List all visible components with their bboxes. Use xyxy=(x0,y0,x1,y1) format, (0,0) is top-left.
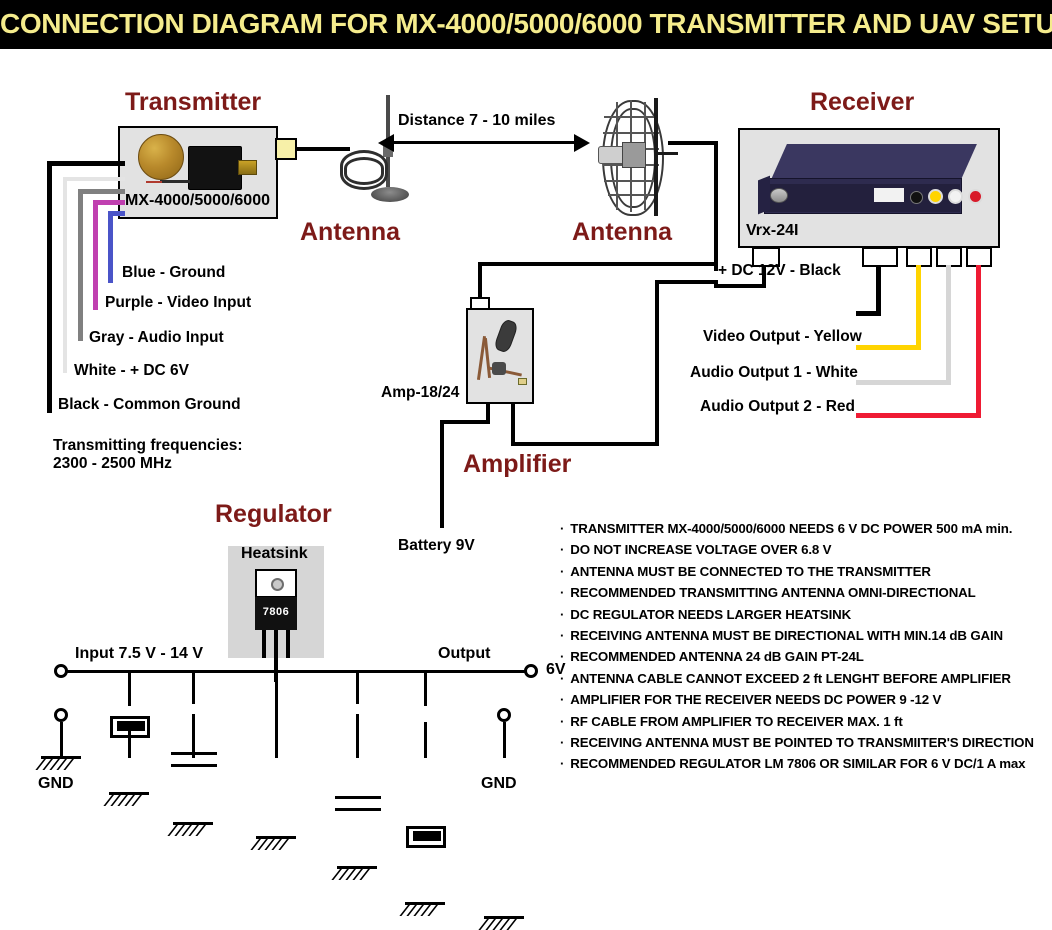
transmitter-model-label: MX-4000/5000/6000 xyxy=(125,192,270,210)
note-text: RECEIVING ANTENNA MUST BE POINTED TO TRA… xyxy=(570,732,1034,753)
regulator-power-rail xyxy=(62,670,530,673)
note-bullet: · xyxy=(560,689,564,710)
rca-audio-white-icon xyxy=(948,189,963,204)
regulator-chip-body: 7806 xyxy=(255,597,297,630)
rca-video-yellow-icon xyxy=(928,189,943,204)
transmitter-module-icon xyxy=(188,146,242,190)
regulator-chip-code: 7806 xyxy=(255,606,297,618)
note-text: RECOMMENDED REGULATOR LM 7806 OR SIMILAR… xyxy=(570,753,1025,774)
note-item: ·RECOMMENDED REGULATOR LM 7806 OR SIMILA… xyxy=(560,753,1052,774)
gnd-left-terminal-node xyxy=(54,708,68,722)
capacitor-2 xyxy=(335,796,381,812)
coin-scale-reference-icon xyxy=(138,134,184,180)
note-text: RF CABLE FROM AMPLIFIER TO RECEIVER MAX.… xyxy=(570,711,902,732)
tx-wire-label-gray: Gray - Audio Input xyxy=(89,329,224,347)
receiver-tab-audio2 xyxy=(966,247,992,267)
note-bullet: · xyxy=(560,539,564,560)
note-bullet: · xyxy=(560,732,564,753)
tx-wire-purple-horizontal xyxy=(93,200,125,205)
title-bar: CONNECTION DIAGRAM FOR MX-4000/5000/6000… xyxy=(0,0,1052,52)
note-bullet: · xyxy=(560,518,564,539)
rx-output-label-dc: + DC 12V - Black xyxy=(718,262,841,280)
note-bullet: · xyxy=(560,753,564,774)
receiver-model-label: Vrx-24I xyxy=(746,222,798,240)
note-bullet: · xyxy=(560,604,564,625)
rx-output-wire-red-vertical xyxy=(976,265,981,418)
amplifier-module-icon xyxy=(493,318,519,354)
note-item: ·RECOMMENDED ANTENNA 24 dB GAIN PT-24L xyxy=(560,646,1052,667)
note-item: ·RECOMMENDED TRANSMITTING ANTENNA OMNI-D… xyxy=(560,582,1052,603)
rx-output-label-audio1: Audio Output 1 - White xyxy=(690,364,858,382)
note-item: ·ANTENNA MUST BE CONNECTED TO THE TRANSM… xyxy=(560,561,1052,582)
distance-label: Distance 7 - 10 miles xyxy=(398,112,555,130)
output-terminal-node xyxy=(524,664,538,678)
note-text: DO NOT INCREASE VOLTAGE OVER 6.8 V xyxy=(570,539,831,560)
note-item: ·DO NOT INCREASE VOLTAGE OVER 6.8 V xyxy=(560,539,1052,560)
gnd-right-drop xyxy=(503,722,506,758)
branch2-drop-bottom xyxy=(128,722,131,758)
receiver-tab-dc xyxy=(862,247,898,267)
amplifier-model-label: Amp-18/24 xyxy=(381,384,459,402)
tx-wire-white-vertical xyxy=(63,177,67,373)
transmitter-device-box: MX-4000/5000/6000 xyxy=(118,126,278,219)
note-item: ·ANTENNA CABLE CANNOT EXCEED 2 ft LENGHT… xyxy=(560,668,1052,689)
tx-wire-label-purple: Purple - Video Input xyxy=(105,294,251,312)
branch3-drop-bottom xyxy=(192,714,195,758)
amplifier-device-box xyxy=(466,308,534,404)
ground-symbol-1 xyxy=(41,756,81,770)
branch6-drop-top xyxy=(424,670,427,706)
amp-to-battery-vertical xyxy=(440,420,444,528)
rca-audio-red-icon xyxy=(968,189,983,204)
rx-output-wire-yellow-vertical xyxy=(916,265,921,350)
note-bullet: · xyxy=(560,711,564,732)
receiver-tab-video xyxy=(906,247,932,267)
note-item: ·RF CABLE FROM AMPLIFIER TO RECEIVER MAX… xyxy=(560,711,1052,732)
note-item: ·RECEIVING ANTENNA MUST BE POINTED TO TR… xyxy=(560,732,1052,753)
note-text: RECOMMENDED TRANSMITTING ANTENNA OMNI-DI… xyxy=(570,582,975,603)
regulator-pin-in xyxy=(262,630,266,658)
tx-wire-label-blue: Blue - Ground xyxy=(122,264,225,282)
regulator-output-label: Output xyxy=(438,645,490,663)
rx-output-label-video: Video Output - Yellow xyxy=(703,328,862,346)
tx-wire-label-black: Black - Common Ground xyxy=(58,396,241,414)
receiver-tab-audio1 xyxy=(936,247,962,267)
rx-output-label-audio2: Audio Output 2 - Red xyxy=(700,398,855,416)
rx-antenna-heading: Antenna xyxy=(572,218,672,247)
regulator-chip-tab xyxy=(255,569,297,598)
tx-wire-black-horizontal xyxy=(47,161,125,166)
note-item: ·DC REGULATOR NEEDS LARGER HEATSINK xyxy=(560,604,1052,625)
ground-symbol-2 xyxy=(109,792,149,806)
note-bullet: · xyxy=(560,646,564,667)
amplifier-heading: Amplifier xyxy=(463,450,571,479)
ground-symbol-7 xyxy=(484,916,524,930)
heatsink-label: Heatsink xyxy=(241,545,308,563)
note-text: ANTENNA MUST BE CONNECTED TO THE TRANSMI… xyxy=(570,561,931,582)
note-text: RECEIVING ANTENNA MUST BE DIRECTIONAL WI… xyxy=(570,625,1003,646)
gnd-left-drop xyxy=(60,722,63,758)
rx-output-wire-yellow-horizontal xyxy=(856,345,921,350)
battery-label: Battery 9V xyxy=(398,537,475,555)
tx-wire-purple-vertical xyxy=(93,200,98,310)
note-text: TRANSMITTER MX-4000/5000/6000 NEEDS 6 V … xyxy=(570,518,1012,539)
note-bullet: · xyxy=(560,625,564,646)
tx-wire-label-white: White - + DC 6V xyxy=(74,362,189,380)
tx-antenna-heading: Antenna xyxy=(300,218,400,247)
branch5-drop-bottom xyxy=(356,714,359,758)
distance-arrow-line xyxy=(393,141,576,144)
regulator-heading: Regulator xyxy=(215,500,332,529)
note-text: RECOMMENDED ANTENNA 24 dB GAIN PT-24L xyxy=(570,646,863,667)
frequencies-line-1: Transmitting frequencies: xyxy=(53,437,242,455)
page-title: CONNECTION DIAGRAM FOR MX-4000/5000/6000… xyxy=(0,0,1052,47)
branch2-drop-top xyxy=(128,670,131,706)
diagram-canvas: CONNECTION DIAGRAM FOR MX-4000/5000/6000… xyxy=(0,0,1052,815)
gnd-right-label: GND xyxy=(481,775,517,793)
branch3-drop-top xyxy=(192,670,195,704)
ground-symbol-3 xyxy=(173,822,213,836)
rx-output-wire-white-horizontal xyxy=(856,380,951,385)
branch5-drop-top xyxy=(356,670,359,704)
rx-output-wire-black-vertical xyxy=(876,265,881,315)
tx-wire-blue-vertical xyxy=(108,211,113,283)
regulator-pin-gnd xyxy=(274,630,278,682)
regulator-input-label: Input 7.5 V - 14 V xyxy=(75,645,203,663)
distance-arrow-right-head xyxy=(574,134,590,152)
tx-wire-black-vertical xyxy=(47,161,52,413)
regulator-mount-hole-icon xyxy=(271,578,284,591)
rx-antenna-feed-horizontal xyxy=(668,141,718,145)
rx-output-wire-red-horizontal xyxy=(856,413,981,418)
rx-antenna-feed-vertical xyxy=(714,141,718,271)
receiver-unit-icon xyxy=(756,144,980,220)
tx-wire-gray-horizontal xyxy=(78,189,125,194)
pigtail-red-wire-icon xyxy=(146,181,162,183)
note-text: DC REGULATOR NEEDS LARGER HEATSINK xyxy=(570,604,851,625)
amp-to-receiver-vertical xyxy=(511,404,515,446)
amp-to-receiver-horizontal xyxy=(511,442,659,446)
note-item: ·RECEIVING ANTENNA MUST BE DIRECTIONAL W… xyxy=(560,625,1052,646)
amp-to-battery-horizontal xyxy=(440,420,490,424)
tx-wire-gray-vertical xyxy=(78,189,83,341)
receiver-device-box: Vrx-24I xyxy=(738,128,1000,248)
frequencies-line-2: 2300 - 2500 MHz xyxy=(53,455,172,473)
ground-symbol-5 xyxy=(337,866,377,880)
gnd-left-label: GND xyxy=(38,775,74,793)
amp-to-receiver-riser xyxy=(655,280,659,446)
grid-parabolic-antenna-icon xyxy=(592,98,672,218)
note-item: ·AMPLIFIER FOR THE RECEIVER NEEDS DC POW… xyxy=(560,689,1052,710)
ground-symbol-4 xyxy=(256,836,296,850)
tx-wire-blue-horizontal xyxy=(108,211,125,216)
note-item: ·TRANSMITTER MX-4000/5000/6000 NEEDS 6 V… xyxy=(560,518,1052,539)
note-text: AMPLIFIER FOR THE RECEIVER NEEDS DC POWE… xyxy=(570,689,941,710)
receiver-heading: Receiver xyxy=(810,88,914,117)
component-block-2 xyxy=(406,826,446,848)
notes-list: ·TRANSMITTER MX-4000/5000/6000 NEEDS 6 V… xyxy=(560,518,1052,775)
input-terminal-node xyxy=(54,664,68,678)
note-bullet: · xyxy=(560,668,564,689)
rx-output-wire-black-horizontal xyxy=(856,311,881,316)
receiver-rf-wire-horizontal xyxy=(714,284,766,288)
regulator-gnd-drop xyxy=(275,682,278,758)
amp-top-feed-horizontal xyxy=(478,262,718,266)
sma-connector-icon xyxy=(238,160,257,175)
note-bullet: · xyxy=(560,582,564,603)
transmitter-heading: Transmitter xyxy=(125,88,261,117)
note-bullet: · xyxy=(560,561,564,582)
distance-arrow-left-head xyxy=(378,134,394,152)
transmitter-antenna-connector xyxy=(275,138,297,160)
ground-symbol-6 xyxy=(405,902,445,916)
amp-to-receiver-top-link xyxy=(655,280,718,284)
pigtail-cable-icon xyxy=(160,180,190,183)
rx-output-wire-white-vertical xyxy=(946,265,951,385)
gnd-right-terminal-node xyxy=(497,708,511,722)
note-text: ANTENNA CABLE CANNOT EXCEED 2 ft LENGHT … xyxy=(570,668,1011,689)
branch6-drop-bottom xyxy=(424,722,427,758)
regulator-pin-out xyxy=(286,630,290,658)
tx-wire-white-horizontal xyxy=(63,177,125,181)
